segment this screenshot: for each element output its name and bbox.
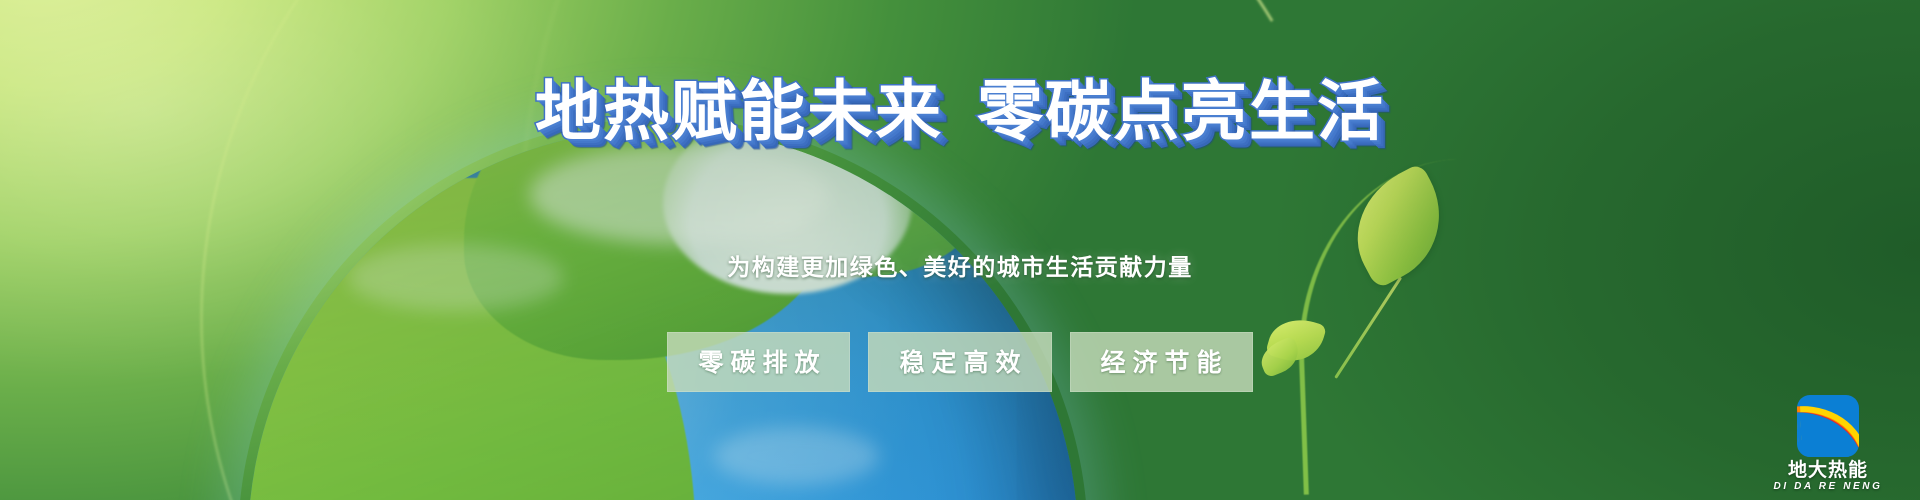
banner-title-part-2: 零碳点亮生活: [977, 58, 1385, 154]
brand-name-cn: 地大热能: [1772, 461, 1884, 481]
banner-title: 地热赋能未来零碳点亮生活: [0, 58, 1920, 154]
logo-swoosh-yellow: [1800, 404, 1859, 457]
brand-name-pinyin: DI DA RE NENG: [1772, 481, 1884, 492]
promo-banner: 地热赋能未来零碳点亮生活 为构建更加绿色、美好的城市生活贡献力量 零碳排放 稳定…: [0, 0, 1920, 500]
banner-title-part-1: 地热赋能未来: [535, 58, 943, 154]
feature-tag-zero-carbon[interactable]: 零碳排放: [667, 332, 850, 392]
feature-tag-stable-efficient[interactable]: 稳定高效: [868, 332, 1051, 392]
didareneng-logo-icon: [1797, 395, 1859, 457]
banner-subtitle: 为构建更加绿色、美好的城市生活贡献力量: [0, 248, 1920, 282]
feature-tag-row: 零碳排放 稳定高效 经济节能: [0, 332, 1920, 392]
feature-tag-economic-saving[interactable]: 经济节能: [1070, 332, 1253, 392]
brand-logo[interactable]: 地大热能 DI DA RE NENG: [1772, 395, 1884, 492]
